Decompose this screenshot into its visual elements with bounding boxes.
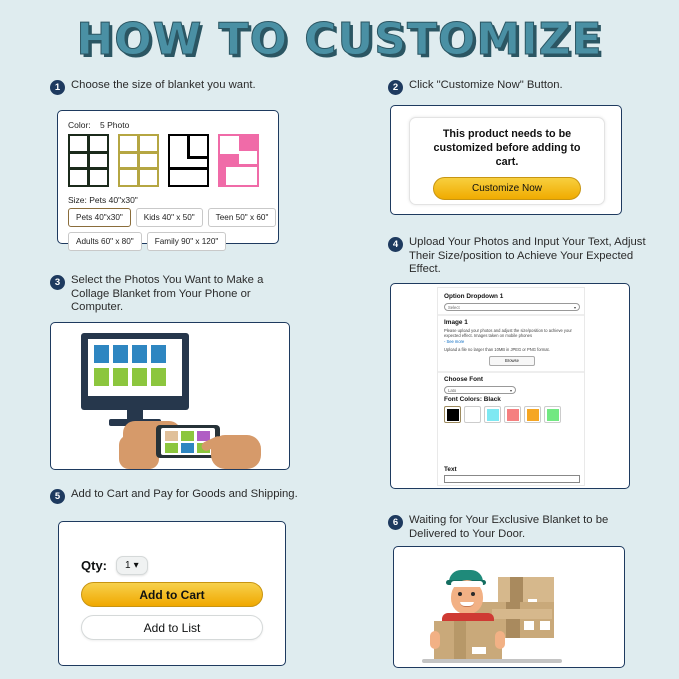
chevron-down-icon-qty: ▾ (134, 560, 139, 571)
size-option-kids[interactable]: Kids 40" x 50" (136, 208, 203, 227)
text-label: Text (444, 466, 580, 473)
qty-stepper[interactable]: 1 ▾ (116, 556, 148, 575)
font-select[interactable]: Lato ▾ (444, 386, 516, 394)
box-carried-tape (454, 621, 466, 661)
size-option-adults[interactable]: Adults 60" x 80" (68, 232, 142, 251)
box-carried (434, 621, 502, 661)
step-1-text: Choose the size of blanket you want. (71, 79, 256, 93)
hand-right-delivery (495, 631, 505, 649)
font-colors-label: Font Colors: Black (444, 396, 580, 403)
step-6-text: Waiting for Your Exclusive Blanket to be… (409, 514, 650, 541)
form-divider-1 (438, 314, 584, 316)
customizer-form: Option Dropdown 1 Select ▾ Image 1 Pleas… (437, 287, 585, 486)
step-2-heading: 2 Click "Customize Now" Button. (388, 79, 668, 95)
step-1-heading: 1 Choose the size of blanket you want. (50, 79, 330, 95)
size-option-family[interactable]: Family 90" x 120" (147, 232, 227, 251)
left-forearm (119, 435, 159, 469)
swatch-salmon[interactable] (504, 406, 521, 423)
step-2-panel: This product needs to be customized befo… (390, 105, 622, 215)
step-4-heading: 4 Upload Your Photos and Input Your Text… (388, 236, 650, 277)
infographic-page: HOW TO CUSTOMIZE 1 Choose the size of bl… (0, 0, 679, 679)
step-3-text: Select the Photos You Want to Make a Col… (71, 274, 300, 315)
monitor-phone-illustration (51, 323, 289, 469)
step-4-badge: 4 (388, 237, 403, 252)
swatch-cyan[interactable] (484, 406, 501, 423)
browse-button[interactable]: Browse (489, 356, 535, 366)
swatch-black[interactable] (444, 406, 461, 423)
step-2-text: Click "Customize Now" Button. (409, 79, 563, 93)
step-6-panel (393, 546, 625, 668)
quantity-row: Qty: 1 ▾ (81, 556, 148, 575)
monitor-screen (88, 339, 182, 396)
step-1-panel: Color: 5 Photo (57, 110, 279, 244)
step-5-heading: 5 Add to Cart and Pay for Goods and Ship… (50, 488, 305, 504)
step-3-heading: 3 Select the Photos You Want to Make a C… (50, 274, 300, 315)
page-title: HOW TO CUSTOMIZE (0, 14, 679, 65)
size-label: Size: Pets 40"x30" (68, 195, 138, 205)
chevron-down-icon-font: ▾ (510, 388, 512, 393)
step-5-panel: Qty: 1 ▾ Add to Cart Add to List (58, 521, 286, 666)
qty-label: Qty: (81, 558, 107, 573)
swatch-orange[interactable] (524, 406, 541, 423)
option-dropdown-label: Option Dropdown 1 (444, 293, 580, 300)
file-size-note: Upload a file no larger than 10MB in JPE… (444, 347, 580, 352)
eye-right (471, 592, 475, 596)
step-3-badge: 3 (50, 275, 65, 290)
chevron-down-icon: ▾ (574, 305, 576, 310)
collage-thumbnail-list (68, 134, 259, 187)
font-value: Lato (448, 388, 456, 393)
image-label: Image 1 (444, 319, 580, 326)
image-upload-group: Image 1 Please upload your photos and ad… (444, 319, 580, 366)
step-4-text: Upload Your Photos and Input Your Text, … (409, 236, 650, 277)
eye-left (458, 592, 462, 596)
size-option-list: Pets 40"x30" Kids 40" x 50" Teen 50" x 6… (68, 208, 296, 251)
customize-prompt-card: This product needs to be customized befo… (409, 117, 605, 205)
cap-band (451, 581, 483, 587)
qty-value: 1 (125, 560, 131, 571)
step-5-text: Add to Cart and Pay for Goods and Shippi… (71, 488, 298, 502)
font-color-swatches (444, 406, 564, 423)
step-6-badge: 6 (388, 515, 403, 530)
hand-left-delivery (430, 631, 440, 649)
step-3-panel (50, 322, 290, 470)
option-dropdown-group: Option Dropdown 1 Select ▾ (444, 293, 580, 311)
step-5-badge: 5 (50, 489, 65, 504)
step-4-panel: Option Dropdown 1 Select ▾ Image 1 Pleas… (390, 283, 630, 489)
box-mid-tape (506, 602, 520, 638)
color-label: Color: (68, 120, 91, 130)
text-input[interactable] (444, 475, 580, 483)
collage-thumb-pink[interactable] (218, 134, 259, 187)
size-option-teen[interactable]: Teen 50" x 60" (208, 208, 277, 227)
collage-thumb-dark[interactable] (68, 134, 109, 187)
option-dropdown-value: Select (448, 305, 460, 310)
ground-line (422, 659, 562, 663)
swatch-green[interactable] (544, 406, 561, 423)
form-divider-2 (438, 371, 584, 373)
choose-font-label: Choose Font (444, 376, 580, 383)
collage-thumb-gold[interactable] (118, 134, 159, 187)
add-to-list-button[interactable]: Add to List (81, 615, 263, 640)
image-help-text: Please upload your photos and adjust the… (444, 328, 580, 338)
size-option-pets[interactable]: Pets 40"x30" (68, 208, 131, 227)
customize-now-button[interactable]: Customize Now (433, 177, 581, 200)
customize-message: This product needs to be customized befo… (410, 118, 604, 169)
step-6-heading: 6 Waiting for Your Exclusive Blanket to … (388, 514, 650, 541)
swatch-white[interactable] (464, 406, 481, 423)
add-to-cart-button[interactable]: Add to Cart (81, 582, 263, 607)
step-2-badge: 2 (388, 80, 403, 95)
choose-font-group: Choose Font Lato ▾ (444, 376, 580, 394)
step-1-badge: 1 (50, 80, 65, 95)
text-group: Text (444, 466, 580, 483)
collage-thumb-black[interactable] (168, 134, 209, 187)
delivery-illustration (394, 547, 624, 667)
color-value: 5 Photo (100, 120, 129, 130)
see-more-link[interactable]: - See more (444, 339, 580, 344)
option-dropdown-select[interactable]: Select ▾ (444, 303, 580, 311)
font-colors-group: Font Colors: Black (444, 396, 580, 403)
